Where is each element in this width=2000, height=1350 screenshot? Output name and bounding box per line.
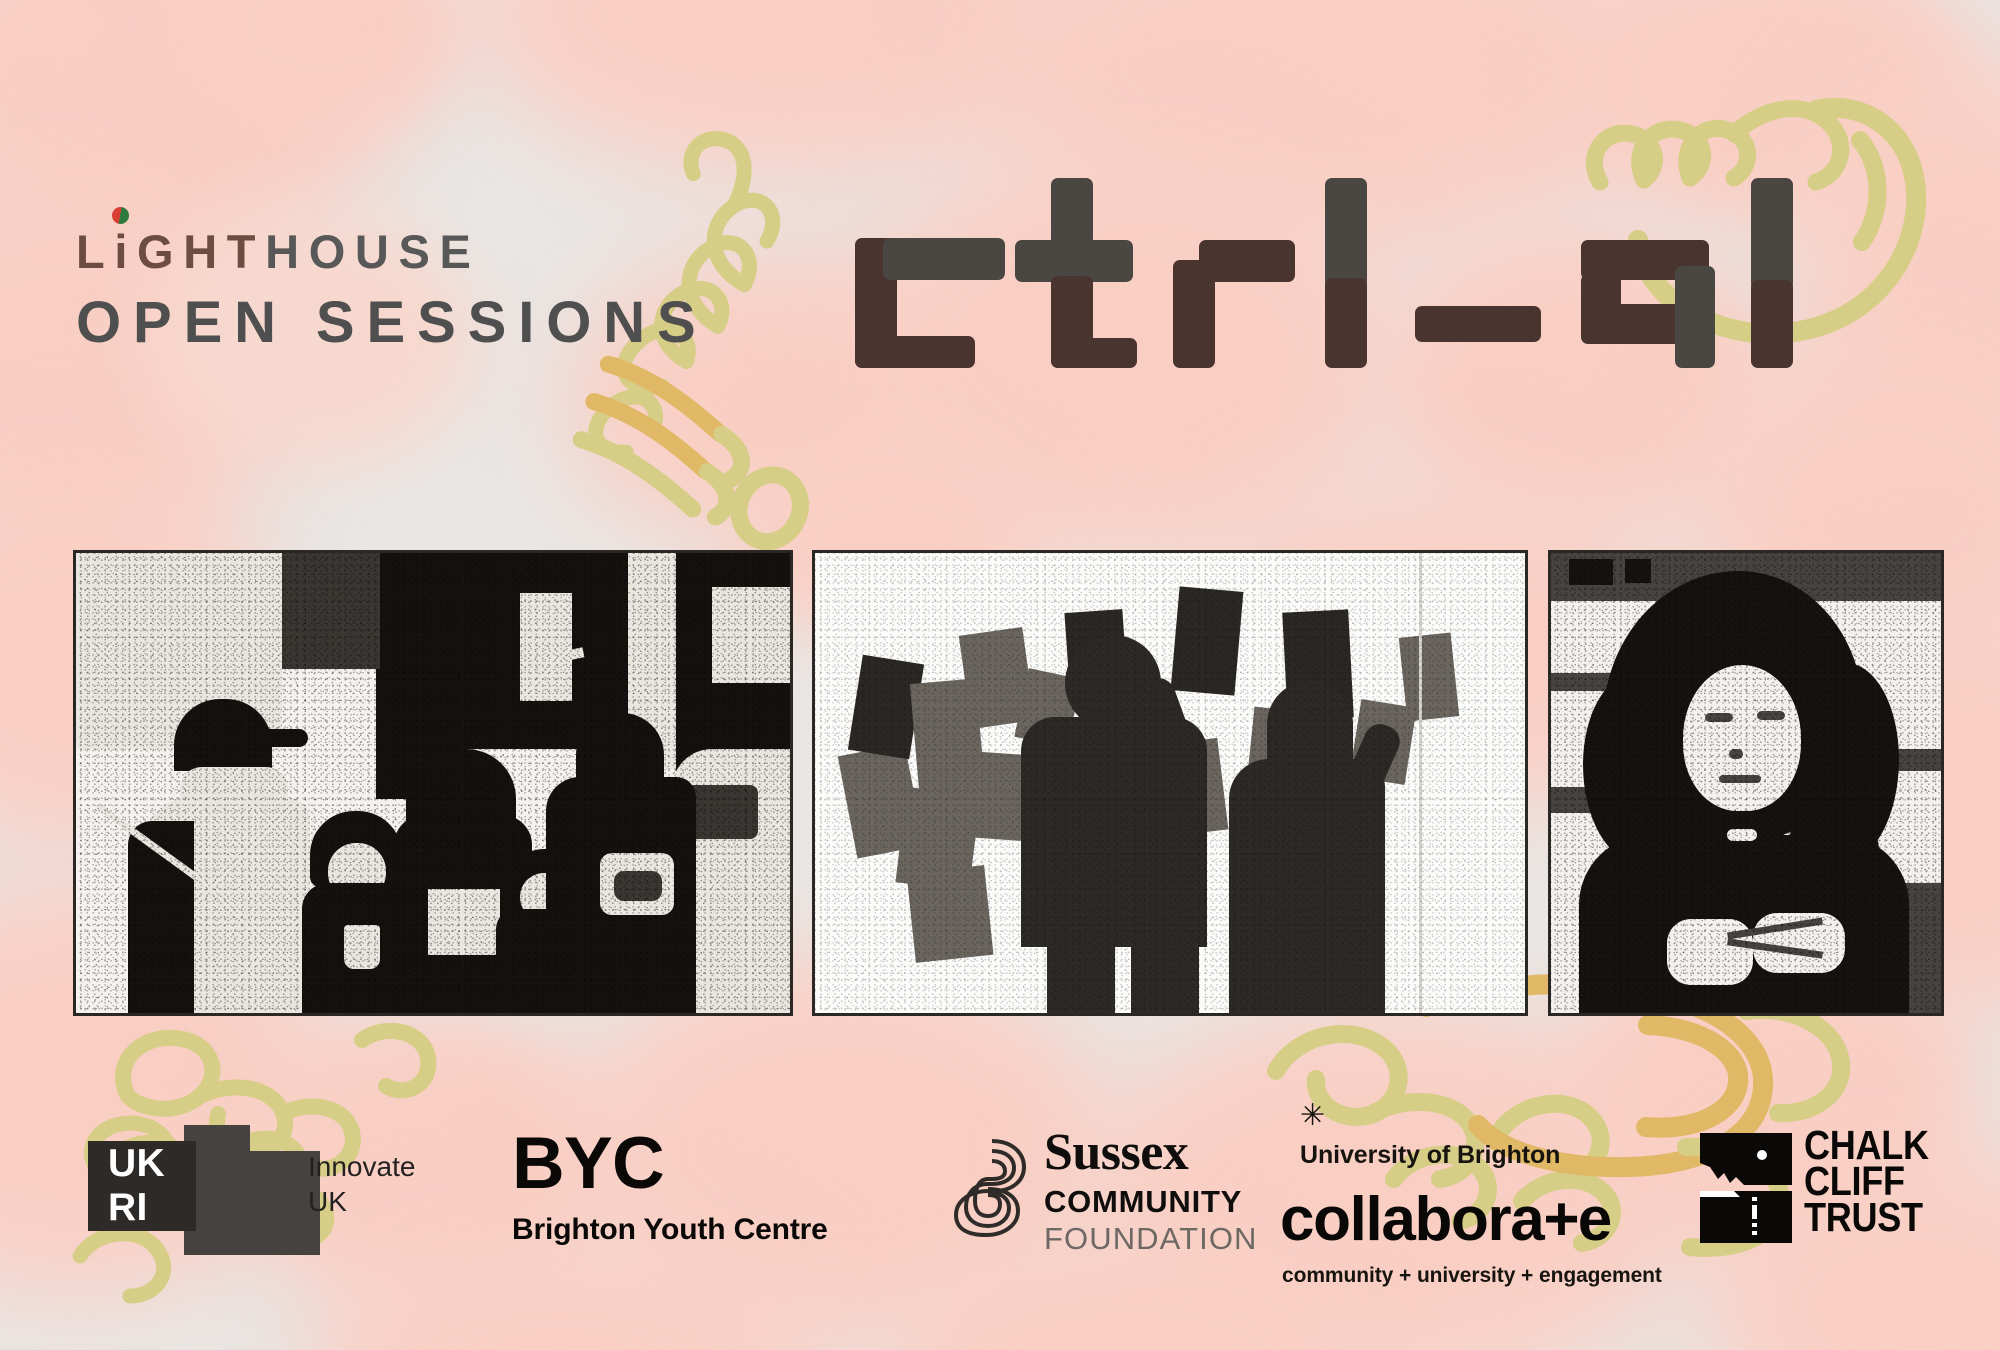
- chalk-cliff-icon: [1700, 1133, 1792, 1243]
- ukri-letters-line1: UK: [108, 1142, 196, 1186]
- ukri-letters: UKRI: [88, 1141, 196, 1231]
- lighthouse-open-sessions-logo: LiGHTHOUSE OPEN SESSIONS: [76, 228, 708, 352]
- header: LiGHTHOUSE OPEN SESSIONS: [0, 0, 2000, 420]
- innovate-uk-line2: UK: [308, 1184, 415, 1219]
- lighthouse-wordmark-light: LiGHT: [76, 225, 265, 278]
- university-of-brighton-name: University of Brighton: [1300, 1143, 1560, 1168]
- university-star-icon: ✳: [1300, 1101, 1325, 1131]
- byc-acronym: BYC: [512, 1127, 664, 1200]
- collaborate-tagline: community + university + engagement: [1282, 1265, 1662, 1286]
- sussex-wordmark: Sussex COMMUNITY FOUNDATION: [1044, 1127, 1258, 1254]
- collaborate-wordmark: collabora+e: [1280, 1189, 1611, 1251]
- collaborate-plus-glyph: +: [1543, 1185, 1577, 1254]
- photo-person-cutting-paper: [1548, 550, 1944, 1016]
- logo-chalk-cliff-trust: CHALK CLIFF TRUST: [1700, 1105, 1950, 1285]
- chalk-cliff-line3: TRUST: [1804, 1199, 1929, 1235]
- logo-brighton-youth-centre: BYC Brighton Youth Centre: [512, 1105, 862, 1285]
- collaborate-part-before: collabora: [1280, 1185, 1543, 1254]
- sussex-figure-eight-icon: [948, 1135, 1030, 1239]
- logo-sussex-community-foundation: Sussex COMMUNITY FOUNDATION: [948, 1105, 1258, 1285]
- byc-full-name: Brighton Youth Centre: [512, 1215, 828, 1245]
- open-sessions-label: OPEN SESSIONS: [76, 294, 708, 352]
- sussex-line-community: COMMUNITY: [1044, 1186, 1258, 1217]
- funder-logo-strip: UKRI Innovate UK BYC Brighton Youth Cent…: [0, 1105, 2000, 1305]
- lighthouse-wordmark-house: HOUSE: [265, 225, 480, 278]
- logo-university-of-brighton-collaborate: ✳ University of Brighton collabora+e com…: [1280, 1105, 1620, 1285]
- collaborate-part-after: e: [1578, 1185, 1611, 1254]
- sussex-line-sussex: Sussex: [1044, 1127, 1258, 1179]
- innovate-uk-name: Innovate UK: [308, 1149, 415, 1219]
- sussex-line-foundation: FOUNDATION: [1044, 1223, 1258, 1254]
- photo-wall-of-prints: [812, 550, 1528, 1016]
- lighthouse-wordmark: LiGHTHOUSE: [76, 228, 708, 275]
- ctrl-alt-logo: [855, 178, 1855, 368]
- lighthouse-dot-icon: [112, 207, 129, 224]
- logo-ukri-innovate-uk: UKRI Innovate UK: [88, 1105, 408, 1285]
- photo-strip: [0, 550, 2000, 1020]
- ukri-letters-line2: RI: [108, 1186, 196, 1230]
- photo-group-of-young-people: [73, 550, 793, 1016]
- chalk-cliff-trust-wordmark: CHALK CLIFF TRUST: [1804, 1127, 1946, 1235]
- innovate-uk-line1: Innovate: [308, 1149, 415, 1184]
